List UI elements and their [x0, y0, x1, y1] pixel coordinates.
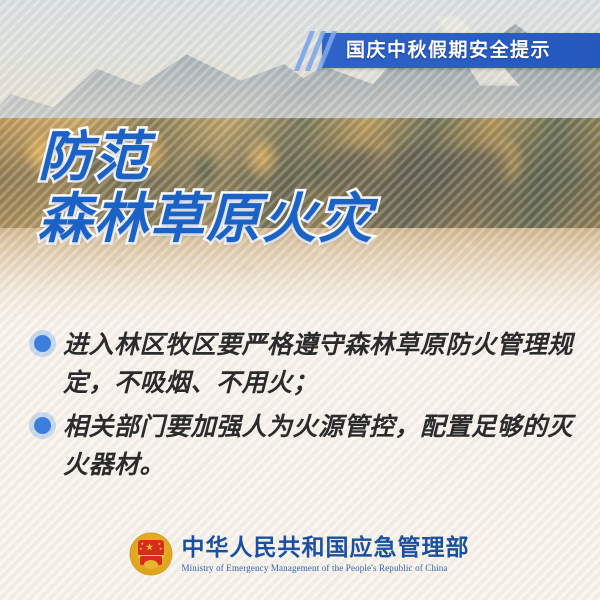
holiday-safety-banner: 国庆中秋假期安全提示 — [300, 33, 600, 68]
bullet-dot-icon — [34, 335, 51, 352]
tip-text: 相关部门要加强人为火源管控，配置足够的灭火器材。 — [63, 408, 574, 484]
tip-text: 进入林区牧区要严格遵守森林草原防火管理规定，不吸烟、不用火； — [63, 326, 574, 402]
org-name-cn: 中华人民共和国应急管理部 — [182, 535, 470, 561]
banner-label: 国庆中秋假期安全提示 — [346, 33, 551, 68]
banner-slash-decoration — [300, 33, 346, 68]
list-item: 相关部门要加强人为火源管控，配置足够的灭火器材。 — [34, 408, 574, 484]
headline-line-1: 防范 — [38, 128, 374, 186]
headline-line-2: 森林草原火灾 — [38, 190, 374, 248]
china-national-emblem-icon — [131, 534, 171, 574]
safety-poster: 国庆中秋假期安全提示 防范 森林草原火灾 进入林区牧区要严格遵守森林草原防火管理… — [0, 0, 600, 600]
footer-organization: 中华人民共和国应急管理部 Ministry of Emergency Manag… — [0, 534, 600, 574]
list-item: 进入林区牧区要严格遵守森林草原防火管理规定，不吸烟、不用火； — [34, 326, 574, 402]
org-names: 中华人民共和国应急管理部 Ministry of Emergency Manag… — [182, 535, 470, 574]
emblem-cog — [144, 560, 158, 569]
tips-list: 进入林区牧区要严格遵守森林草原防火管理规定，不吸烟、不用火； 相关部门要加强人为… — [34, 326, 574, 490]
bullet-dot-icon — [34, 417, 51, 434]
poster-headline: 防范 森林草原火灾 — [38, 128, 374, 249]
org-name-en: Ministry of Emergency Management of the … — [182, 563, 470, 573]
